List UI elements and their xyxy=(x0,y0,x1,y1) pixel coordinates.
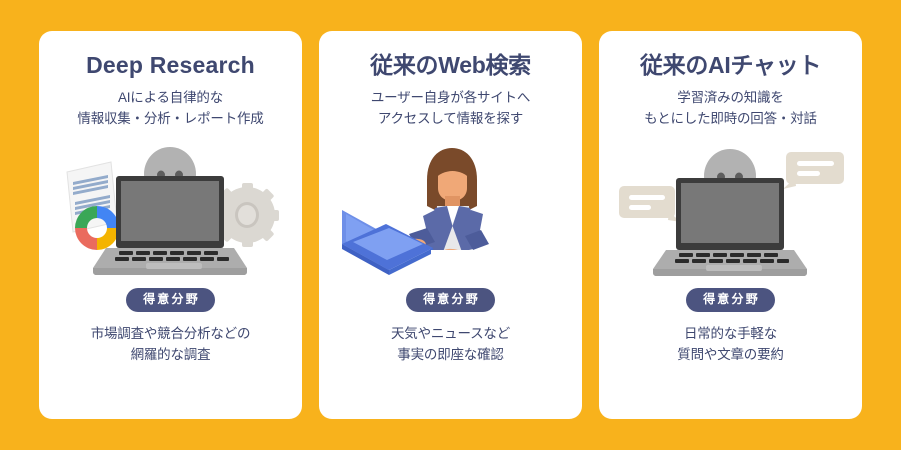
card-description: 日常的な手軽な 質問や文章の要約 xyxy=(677,323,783,366)
status-badge: 得意分野 xyxy=(686,288,775,311)
card-desc-line2: 事実の即座な確認 xyxy=(391,344,510,366)
card-title: 従来のWeb検索 xyxy=(370,53,531,78)
card-title: Deep Research xyxy=(86,53,255,78)
illustration-robot-research xyxy=(51,144,290,276)
card-subtitle: 学習済みの知識を もとにした即時の回答・対話 xyxy=(644,88,817,130)
card-title: 従来のAIチャット xyxy=(640,53,821,78)
status-badge: 得意分野 xyxy=(126,288,215,311)
illustration-person-typing xyxy=(331,144,570,276)
card-desc-line2: 網羅的な調査 xyxy=(91,344,251,366)
card-description: 天気やニュースなど 事実の即座な確認 xyxy=(391,323,510,366)
cards-container: Deep Research AIによる自律的な 情報収集・分析・レポート作成 xyxy=(0,0,901,450)
donut-chart-icon xyxy=(75,206,119,250)
speech-bubble-right-icon xyxy=(783,152,844,189)
laptop-icon xyxy=(93,176,247,275)
card-subtitle-line2: アクセスして情報を探す xyxy=(371,109,530,130)
laptop-icon xyxy=(653,178,807,276)
card-desc-line1: 日常的な手軽な xyxy=(677,323,783,345)
card-deep-research[interactable]: Deep Research AIによる自律的な 情報収集・分析・レポート作成 xyxy=(39,31,302,419)
card-subtitle-line1: 学習済みの知識を xyxy=(644,88,817,109)
card-subtitle-line1: AIによる自律的な xyxy=(77,88,263,109)
card-subtitle-line2: 情報収集・分析・レポート作成 xyxy=(77,109,263,130)
gear-icon xyxy=(215,183,279,247)
card-subtitle-line1: ユーザー自身が各サイトへ xyxy=(371,88,530,109)
card-subtitle: AIによる自律的な 情報収集・分析・レポート作成 xyxy=(77,88,263,130)
card-desc-line1: 市場調査や競合分析などの xyxy=(91,323,251,345)
card-desc-line1: 天気やニュースなど xyxy=(391,323,510,345)
speech-bubble-left-icon xyxy=(619,186,681,222)
card-desc-line2: 質問や文章の要約 xyxy=(677,344,783,366)
card-subtitle: ユーザー自身が各サイトへ アクセスして情報を探す xyxy=(371,88,530,130)
card-ai-chat[interactable]: 従来のAIチャット 学習済みの知識を もとにした即時の回答・対話 xyxy=(599,31,862,419)
card-web-search[interactable]: 従来のWeb検索 ユーザー自身が各サイトへ アクセスして情報を探す xyxy=(319,31,582,419)
card-subtitle-line2: もとにした即時の回答・対話 xyxy=(644,109,817,130)
status-badge: 得意分野 xyxy=(406,288,495,311)
card-description: 市場調査や競合分析などの 網羅的な調査 xyxy=(91,323,251,366)
laptop-icon xyxy=(342,210,433,275)
illustration-robot-chat xyxy=(611,144,850,276)
